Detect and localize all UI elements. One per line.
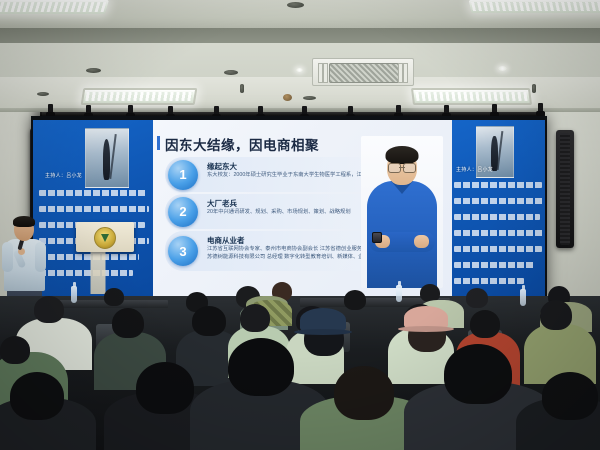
ceiling-speaker-icon xyxy=(37,92,49,96)
audience-head xyxy=(34,296,64,323)
track-light-icon xyxy=(48,104,53,115)
audience-head xyxy=(136,362,194,414)
wristwatch-icon xyxy=(372,232,382,243)
ceiling-panel-light xyxy=(411,88,532,105)
audience-head xyxy=(444,344,512,404)
ceiling-shadow-band xyxy=(0,28,600,44)
audience-head xyxy=(344,290,366,310)
conference-hall-screenshot: 主持人：吕小龙 主持人：吕小龙 因东大结缘，因电商相聚 1 缘起东大 东大校友：… xyxy=(0,0,600,450)
item-number-badge: 1 xyxy=(168,160,198,190)
ceiling-downlight-icon xyxy=(296,68,303,72)
audience-head xyxy=(240,304,270,332)
podium-stem xyxy=(91,252,106,294)
ac-grille xyxy=(329,63,399,83)
side-photo-left xyxy=(85,128,129,188)
audience-head xyxy=(10,372,64,420)
audience-head xyxy=(228,338,294,396)
wall-speaker-right-icon xyxy=(556,130,574,248)
ceiling-panel-light xyxy=(81,88,198,105)
title-accent-bar xyxy=(157,136,160,150)
ceiling-ac-vent-icon xyxy=(312,58,414,86)
ceiling-speaker-icon xyxy=(86,68,101,73)
slide-portrait-photo xyxy=(361,136,443,288)
track-light-icon xyxy=(128,105,133,116)
track-light-icon xyxy=(444,105,449,116)
host-label-right: 主持人：吕小龙 xyxy=(456,166,493,173)
track-light-icon xyxy=(396,105,401,116)
audience-head xyxy=(334,366,394,420)
screen-panel-right: 主持人：吕小龙 xyxy=(452,120,545,296)
pink-cap-icon xyxy=(404,306,448,329)
audience-head xyxy=(466,288,488,308)
audience-head xyxy=(470,310,500,338)
podium xyxy=(76,222,134,252)
audience-head xyxy=(542,372,598,420)
audience-head xyxy=(192,306,226,336)
track-light-icon xyxy=(492,104,497,115)
audience-head xyxy=(104,288,124,306)
item-number-badge: 3 xyxy=(168,236,198,266)
glasses-icon xyxy=(388,163,416,171)
water-bottle xyxy=(520,289,526,306)
host-label-left: 主持人：吕小龙 xyxy=(45,172,82,179)
ceiling-panel-light xyxy=(469,0,600,13)
ceiling-speaker-icon xyxy=(224,70,238,75)
ceiling-panel-light xyxy=(0,0,109,14)
ceiling-speaker-icon xyxy=(287,2,304,8)
smoke-detector-icon xyxy=(283,94,292,101)
track-light-icon xyxy=(86,105,91,116)
organization-emblem-icon xyxy=(94,227,116,249)
ceiling-downlight-icon xyxy=(498,66,507,71)
water-bottle xyxy=(71,286,77,303)
navy-cap-icon xyxy=(300,308,346,332)
audience-head xyxy=(112,308,144,338)
ceiling-sensor-icon xyxy=(532,84,536,93)
ceiling-sensor-icon xyxy=(240,84,244,93)
item-number-badge: 2 xyxy=(168,197,198,227)
water-bottle xyxy=(396,285,402,302)
audience-head xyxy=(540,300,572,330)
ceiling-speaker-icon xyxy=(303,96,316,100)
track-light-icon xyxy=(538,103,543,114)
presentation-slide: 因东大结缘，因电商相聚 1 缘起东大 东大校友：2000年硕士研究生毕业于东南大… xyxy=(153,120,452,296)
slide-title: 因东大结缘，因电商相聚 xyxy=(165,134,319,154)
audience-head xyxy=(0,336,30,364)
